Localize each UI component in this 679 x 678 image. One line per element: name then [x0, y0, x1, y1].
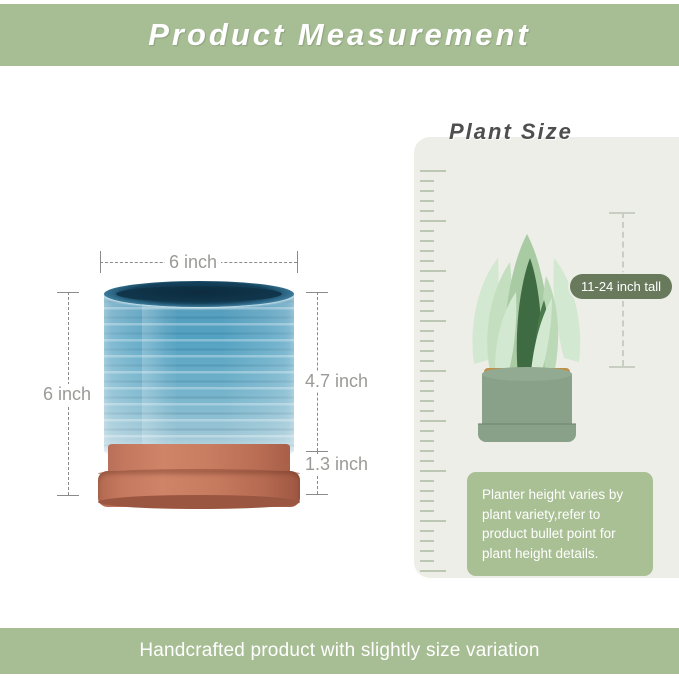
header-banner: Product Measurement: [0, 4, 679, 66]
ruler-tick-minor: [420, 540, 434, 542]
ruler-tick-minor: [420, 250, 434, 252]
ruler-tick-minor: [420, 230, 434, 232]
saucer-height-dimension-label: 1.3 inch: [301, 454, 372, 475]
footer-note: Handcrafted product with slightly size v…: [139, 640, 539, 662]
ruler-tick-major: [420, 370, 446, 372]
ruler-tick-minor: [420, 280, 434, 282]
saucer-height-cap-bottom: [306, 494, 328, 495]
ruler-tick-minor: [420, 290, 434, 292]
ruler-tick-major: [420, 220, 446, 222]
ruler-tick-minor: [420, 490, 434, 492]
ruler-tick-minor: [420, 260, 434, 262]
ruler-tick-minor: [420, 360, 434, 362]
saucer-bottom: [98, 495, 300, 509]
footer-banner: Handcrafted product with slightly size v…: [0, 628, 679, 674]
pot-interior: [116, 286, 282, 302]
ruler-tick-major: [420, 420, 446, 422]
ruler-tick-minor: [420, 340, 434, 342]
ruler-tick-major: [420, 570, 446, 572]
ruler-tick-minor: [420, 180, 434, 182]
ruler-tick-minor: [420, 350, 434, 352]
plant-height-badge: 11-24 inch tall: [570, 274, 672, 299]
ruler-tick-minor: [420, 330, 434, 332]
ruler-tick-major: [420, 320, 446, 322]
ruler-tick-minor: [420, 450, 434, 452]
width-dimension-label: 6 inch: [165, 252, 221, 273]
ruler-tick-minor: [420, 430, 434, 432]
ruler-tick-major: [420, 470, 446, 472]
ruler-tick-minor: [420, 440, 434, 442]
ruler-tick-minor: [420, 240, 434, 242]
ruler-tick-minor: [420, 390, 434, 392]
ruler-tick-major: [420, 270, 446, 272]
ruler-tick-minor: [420, 300, 434, 302]
measuring-ruler: [420, 170, 454, 570]
ruler-tick-minor: [420, 310, 434, 312]
ruler-tick-minor: [420, 510, 434, 512]
ruler-tick-major: [420, 520, 446, 522]
total-height-dimension-label: 6 inch: [39, 384, 95, 405]
ruler-tick-minor: [420, 530, 434, 532]
pot-height-dimension-label: 4.7 inch: [301, 371, 372, 392]
plant-height-cap-bottom: [609, 366, 635, 368]
ruler-tick-minor: [420, 200, 434, 202]
ruler-tick-minor: [420, 210, 434, 212]
ruler-tick-minor: [420, 410, 434, 412]
total-height-cap-bottom: [57, 495, 79, 496]
ruler-tick-minor: [420, 480, 434, 482]
ruler-tick-major: [420, 170, 446, 172]
page-title: Product Measurement: [148, 17, 531, 53]
ruler-tick-minor: [420, 380, 434, 382]
plant-height-note: Planter height varies by plant variety,r…: [467, 472, 653, 576]
planter-illustration: [104, 281, 294, 496]
pot-rim: [104, 281, 294, 307]
product-measurement-panel: 6 inch 6 inch 4.7 inch 1.3 inch: [0, 66, 400, 626]
ruler-tick-minor: [420, 560, 434, 562]
pot-body: [104, 291, 294, 454]
width-dimension-cap-right: [297, 251, 298, 273]
plant-size-title: Plant Size: [449, 119, 573, 145]
ruler-tick-minor: [420, 500, 434, 502]
ruler-tick-minor: [420, 460, 434, 462]
ruler-tick-minor: [420, 550, 434, 552]
snake-plant-illustration: [466, 196, 588, 446]
ruler-tick-minor: [420, 190, 434, 192]
ruler-tick-minor: [420, 400, 434, 402]
